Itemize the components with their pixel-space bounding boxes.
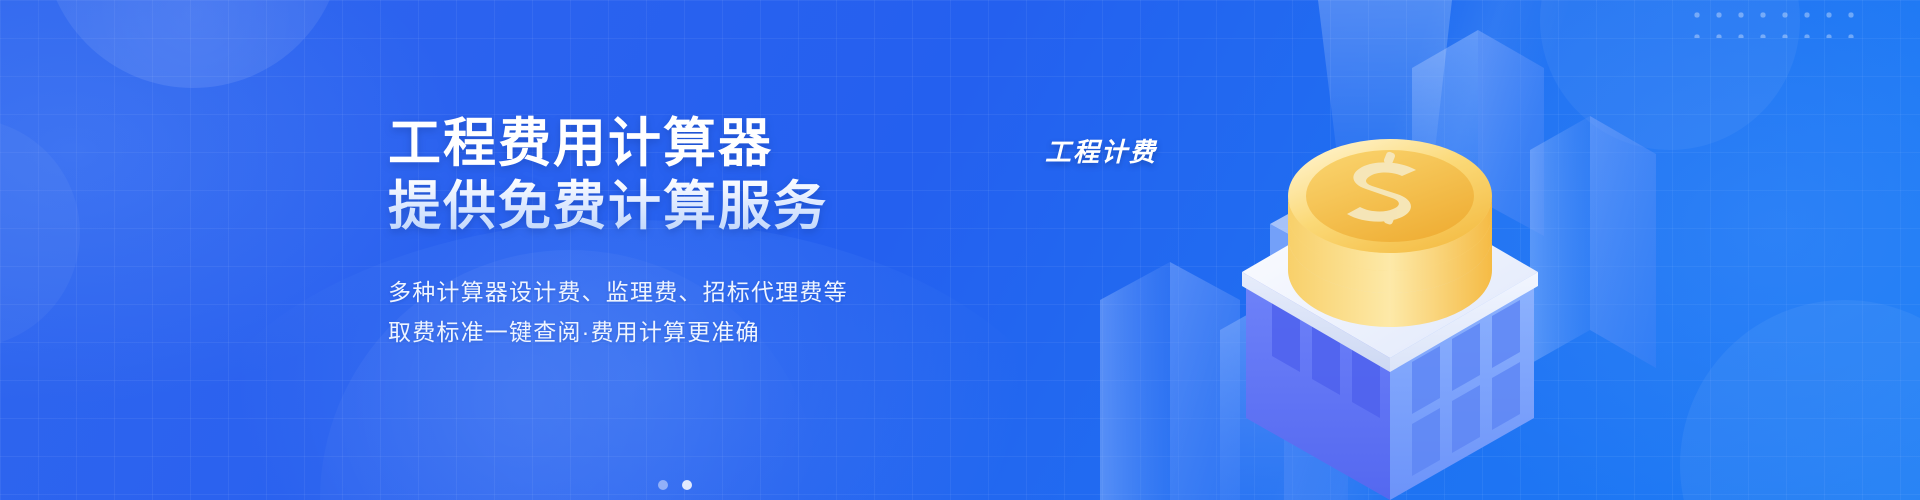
decorative-circle-left <box>0 118 80 348</box>
pagination-dot-1[interactable] <box>658 480 668 490</box>
isometric-building-illustration <box>1060 0 1680 500</box>
subtitle-line-2: 取费标准一键查阅·费用计算更准确 <box>388 312 1028 352</box>
pagination-dot-2[interactable] <box>682 480 692 490</box>
decorative-circle-bottom-right <box>1680 300 1920 500</box>
subtitle-line-1: 多种计算器设计费、监理费、招标代理费等 <box>388 272 1028 312</box>
illustration-label: 工程计费 <box>1045 132 1157 169</box>
carousel-pagination[interactable] <box>658 480 692 490</box>
headline-line-1: 工程费用计算器 <box>388 112 1028 175</box>
decorative-circle-top-left <box>43 0 343 88</box>
headline-line-2: 提供免费计算服务 <box>388 175 1028 238</box>
hero-copy-block: 工程费用计算器 提供免费计算服务 多种计算器设计费、监理费、招标代理费等 取费标… <box>388 112 1028 352</box>
hero-banner: 工程计费 工程费用计算器 提供免费计算服务 多种计算器设计费、监理费、招标代理费… <box>0 0 1920 500</box>
page-title: 工程费用计算器 提供免费计算服务 <box>388 112 1028 238</box>
dot-grid-pattern-icon <box>1686 4 1862 38</box>
gold-coin-icon <box>1288 139 1492 327</box>
hero-subtitle: 多种计算器设计费、监理费、招标代理费等 取费标准一键查阅·费用计算更准确 <box>388 272 1028 352</box>
